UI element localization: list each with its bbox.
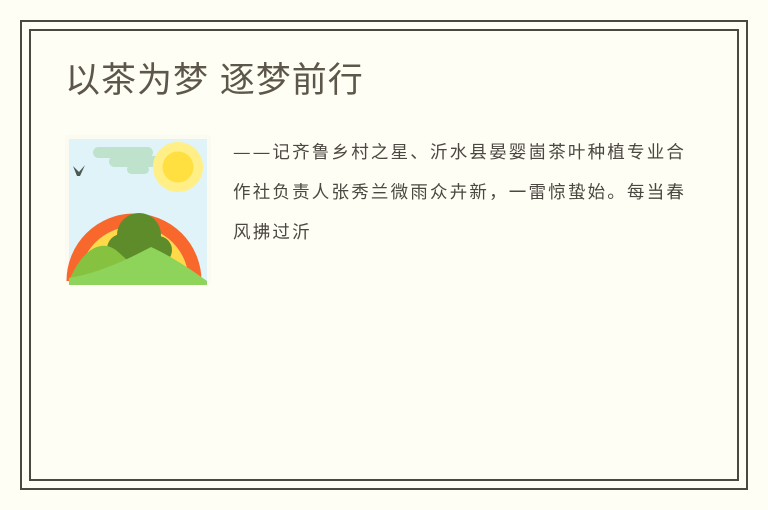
article-body: 以茶为梦 逐梦前行 bbox=[31, 31, 737, 479]
landscape-illustration-svg bbox=[65, 135, 211, 285]
inner-frame: 以茶为梦 逐梦前行 bbox=[29, 29, 739, 481]
sun-circle bbox=[163, 151, 194, 182]
article-page-root: { "document": { "headline": "以茶为梦 逐梦前行",… bbox=[0, 0, 768, 510]
content-block: ——记齐鲁乡村之星、沂水县晏婴崮茶叶种植专业合作社负责人张秀兰微雨众卉新，一雷惊… bbox=[65, 131, 703, 254]
article-illustration bbox=[65, 135, 211, 285]
page-title: 以茶为梦 逐梦前行 bbox=[65, 59, 703, 103]
outer-frame: 以茶为梦 逐梦前行 bbox=[20, 20, 748, 490]
